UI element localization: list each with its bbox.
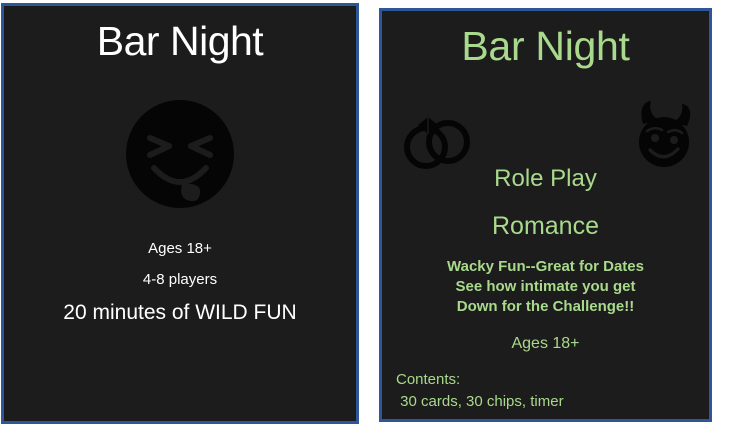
left-card-duration: 20 minutes of WILD FUN (4, 296, 356, 330)
left-card-age-rating: Ages 18+ (4, 234, 356, 264)
cards-stage: Bar Night Ages 18+ 4-8 players (0, 0, 730, 432)
contents-value: 30 cards, 30 chips, timer (396, 391, 564, 413)
blurb-line-3: Down for the Challenge!! (382, 297, 709, 317)
blurb-line-2: See how intimate you get (382, 277, 709, 297)
squinting-face-with-tongue-emoji (124, 98, 236, 210)
right-card-contents: Contents: 30 cards, 30 chips, timer (396, 369, 564, 413)
right-card-title: Bar Night (382, 25, 709, 68)
left-card-title: Bar Night (4, 20, 356, 63)
left-card-details: Ages 18+ 4-8 players 20 minutes of WILD … (4, 234, 356, 330)
right-card-age-rating: Ages 18+ (382, 333, 709, 355)
right-card-subtitle-romance: Romance (382, 209, 709, 243)
left-card-player-count: 4-8 players (4, 264, 356, 296)
left-card-emoji-container (4, 98, 356, 213)
right-card-blurb: Wacky Fun--Great for Dates See how intim… (382, 257, 709, 317)
game-card-left[interactable]: Bar Night Ages 18+ 4-8 players (1, 3, 359, 424)
game-card-right[interactable]: Bar Night Role Play Romance (379, 8, 712, 422)
wedding-rings-icon (400, 108, 472, 170)
right-card-subtitle-role-play: Role Play (382, 163, 709, 195)
smiling-face-with-horns-emoji (631, 98, 697, 170)
contents-label: Contents: (396, 369, 564, 391)
blurb-line-1: Wacky Fun--Great for Dates (382, 257, 709, 277)
